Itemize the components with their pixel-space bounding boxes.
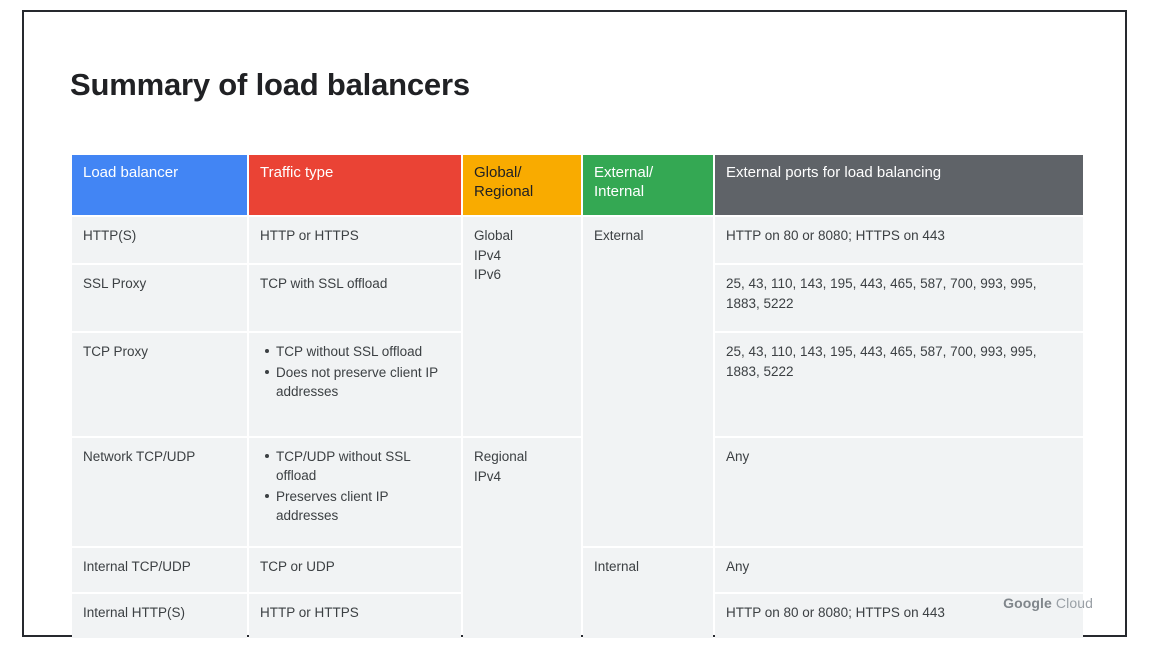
logo-cloud-text: Cloud [1056, 595, 1093, 611]
traffic-type-bullet-list: TCP without SSL offload Does not preserv… [260, 342, 450, 401]
scope-line3: IPv6 [474, 265, 570, 285]
list-item: Preserves client IP addresses [276, 487, 450, 525]
page-title: Summary of load balancers [70, 67, 470, 103]
list-item: Does not preserve client IP addresses [276, 363, 450, 401]
column-header-load-balancer: Load balancer [72, 155, 247, 215]
cell-external-internal: Internal [583, 548, 713, 638]
slide-frame: Summary of load balancers Load balancer … [22, 10, 1127, 637]
cell-load-balancer: Internal HTTP(S) [72, 594, 247, 638]
column-header-external-internal-line1: External/ [594, 164, 702, 183]
column-header-traffic-type: Traffic type [249, 155, 461, 215]
cell-traffic-type: TCP without SSL offload Does not preserv… [249, 333, 461, 436]
cell-load-balancer: TCP Proxy [72, 333, 247, 436]
column-header-external-internal-line2: Internal [594, 183, 702, 202]
list-item: TCP/UDP without SSL offload [276, 447, 450, 485]
column-header-global-regional: Global/ Regional [463, 155, 581, 215]
cell-global-regional: Regional IPv4 [463, 438, 581, 638]
cell-global-regional: Global IPv4 IPv6 [463, 217, 581, 436]
scope-line2: IPv4 [474, 246, 570, 266]
logo-google-text: Google [1003, 595, 1052, 611]
cell-load-balancer: Internal TCP/UDP [72, 548, 247, 592]
scope-line1: Global [474, 226, 570, 246]
cell-external-ports: Any [715, 548, 1083, 592]
load-balancer-table-wrapper: Load balancer Traffic type Global/ Regio… [70, 153, 1079, 640]
cell-traffic-type: HTTP or HTTPS [249, 217, 461, 263]
table-header-row: Load balancer Traffic type Global/ Regio… [72, 155, 1083, 215]
cell-traffic-type: TCP or UDP [249, 548, 461, 592]
cell-external-internal: External [583, 217, 713, 546]
column-header-external-ports: External ports for load balancing [715, 155, 1083, 215]
column-header-external-internal: External/ Internal [583, 155, 713, 215]
list-item: TCP without SSL offload [276, 342, 450, 361]
cell-traffic-type: HTTP or HTTPS [249, 594, 461, 638]
cell-traffic-type: TCP with SSL offload [249, 265, 461, 331]
cell-load-balancer: Network TCP/UDP [72, 438, 247, 546]
scope-line1: Regional [474, 447, 570, 467]
scope-line2: IPv4 [474, 467, 570, 487]
google-cloud-logo: Google Cloud [1003, 595, 1093, 611]
table-row: HTTP(S) HTTP or HTTPS Global IPv4 IPv6 E… [72, 217, 1083, 263]
cell-external-ports: Any [715, 438, 1083, 546]
column-header-global-regional-line2: Regional [474, 183, 570, 202]
traffic-type-bullet-list: TCP/UDP without SSL offload Preserves cl… [260, 447, 450, 526]
cell-traffic-type: TCP/UDP without SSL offload Preserves cl… [249, 438, 461, 546]
cell-load-balancer: HTTP(S) [72, 217, 247, 263]
table-body: HTTP(S) HTTP or HTTPS Global IPv4 IPv6 E… [72, 217, 1083, 638]
cell-external-ports: HTTP on 80 or 8080; HTTPS on 443 [715, 217, 1083, 263]
column-header-global-regional-line1: Global/ [474, 164, 570, 183]
cell-load-balancer: SSL Proxy [72, 265, 247, 331]
cell-external-ports: 25, 43, 110, 143, 195, 443, 465, 587, 70… [715, 333, 1083, 436]
load-balancer-summary-table: Load balancer Traffic type Global/ Regio… [70, 153, 1085, 640]
cell-external-ports: 25, 43, 110, 143, 195, 443, 465, 587, 70… [715, 265, 1083, 331]
table-row: Network TCP/UDP TCP/UDP without SSL offl… [72, 438, 1083, 546]
